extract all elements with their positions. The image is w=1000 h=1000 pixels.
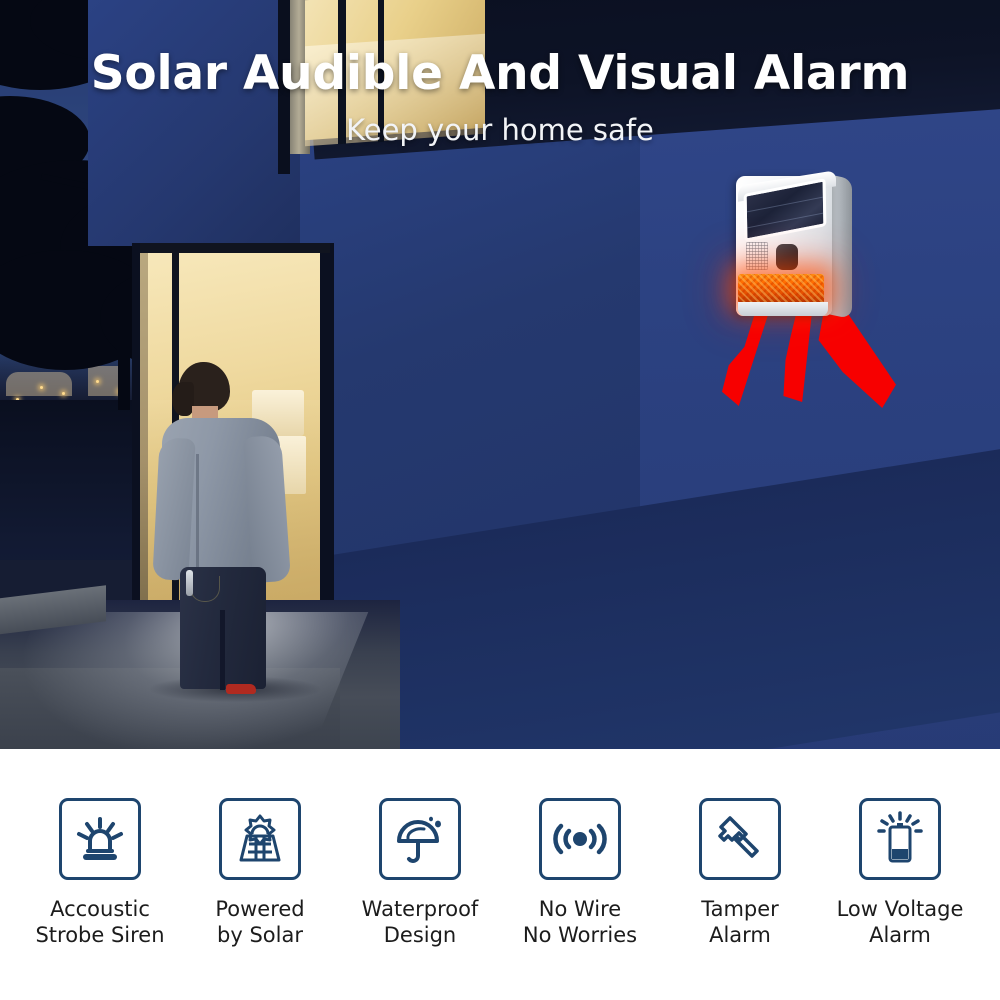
feature-item-no-wire-no-worries: No Wire No Worries [502, 798, 658, 1000]
feature-label: Tamper Alarm [701, 896, 779, 948]
feature-item-acoustic-strobe-siren: Accoustic Strobe Siren [22, 798, 178, 1000]
solar-siren-alarm-device [730, 170, 860, 320]
page-title: Solar Audible And Visual Alarm [0, 46, 1000, 101]
person-at-door [170, 362, 300, 692]
jeans-leg-gap [220, 610, 225, 690]
jeans-pocket [190, 576, 220, 602]
person-hair-side [172, 382, 194, 416]
device-speaker-grille [746, 242, 768, 270]
device-base [738, 302, 828, 316]
feature-label: Accoustic Strobe Siren [35, 896, 164, 948]
door-head [140, 243, 330, 253]
city-light [62, 392, 65, 395]
solar-panel-icon [219, 798, 301, 880]
feature-label: Powered by Solar [215, 896, 304, 948]
siren-icon [59, 798, 141, 880]
feature-label: Waterproof Design [362, 896, 479, 948]
hero-photo: Solar Audible And Visual Alarm Keep your… [0, 0, 1000, 749]
feature-item-waterproof-design: Waterproof Design [342, 798, 498, 1000]
device-sensor-lens [776, 244, 798, 270]
umbrella-waterproof-icon [379, 798, 461, 880]
city-light [96, 380, 99, 383]
blazer-fold [196, 454, 199, 574]
wireless-signal-icon [539, 798, 621, 880]
keys-on-belt [186, 570, 193, 596]
feature-strip: Accoustic Strobe Siren Powered by Solar [0, 749, 1000, 1000]
strobe-texture [738, 274, 824, 304]
tree-trunk [118, 300, 130, 410]
city-light [40, 386, 43, 389]
person-shoe [226, 684, 256, 694]
low-battery-icon [859, 798, 941, 880]
person-left-arm [152, 437, 195, 581]
feature-item-tamper-alarm: Tamper Alarm [662, 798, 818, 1000]
product-marketing-page: Solar Audible And Visual Alarm Keep your… [0, 0, 1000, 1000]
feature-item-powered-by-solar: Powered by Solar [182, 798, 338, 1000]
feature-item-low-voltage-alarm: Low Voltage Alarm [822, 798, 978, 1000]
feature-label: No Wire No Worries [523, 896, 637, 948]
page-subtitle: Keep your home safe [0, 113, 1000, 147]
feature-label: Low Voltage Alarm [837, 896, 964, 948]
device-strobe-lens [738, 274, 824, 304]
hammer-tamper-icon [699, 798, 781, 880]
